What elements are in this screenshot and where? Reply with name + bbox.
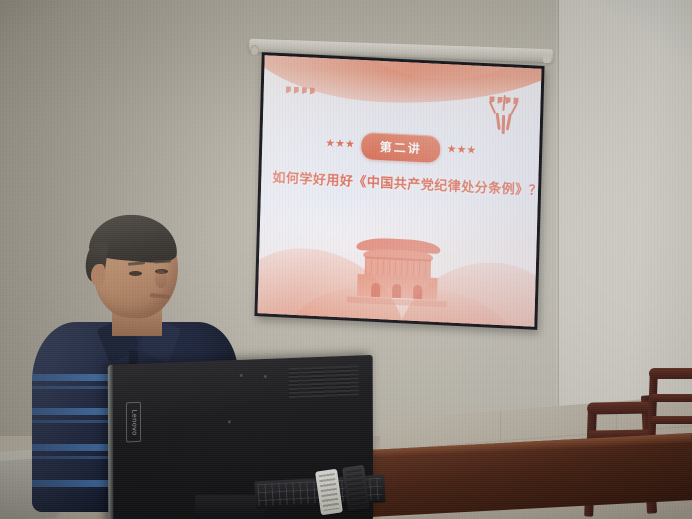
monitor-side-edge: [108, 365, 114, 519]
projector-screen-pull-knob[interactable]: [543, 55, 551, 63]
photo-scene: ★★★ 第二讲 ★★★ 如何学好用好《中国共产党纪律处分条例》？: [0, 0, 692, 519]
monitor-vent: [289, 365, 359, 398]
screen-glare: [258, 55, 542, 326]
wall-corner-edge: [556, 0, 559, 430]
presenter-nose: [155, 270, 167, 288]
monitor-screw-1: [240, 374, 243, 377]
lenovo-logo: Lenovo: [126, 402, 141, 443]
monitor-screw-3: [228, 420, 231, 423]
monitor-screw-2: [264, 375, 267, 378]
monitor-brand-text: Lenovo: [130, 409, 137, 435]
projection-screen-surface: ★★★ 第二讲 ★★★ 如何学好用好《中国共产党纪律处分条例》？: [258, 55, 542, 326]
eye-left: [129, 271, 142, 276]
presenter-ear: [91, 264, 105, 286]
projection-screen: ★★★ 第二讲 ★★★ 如何学好用好《中国共产党纪律处分条例》？: [254, 52, 544, 330]
